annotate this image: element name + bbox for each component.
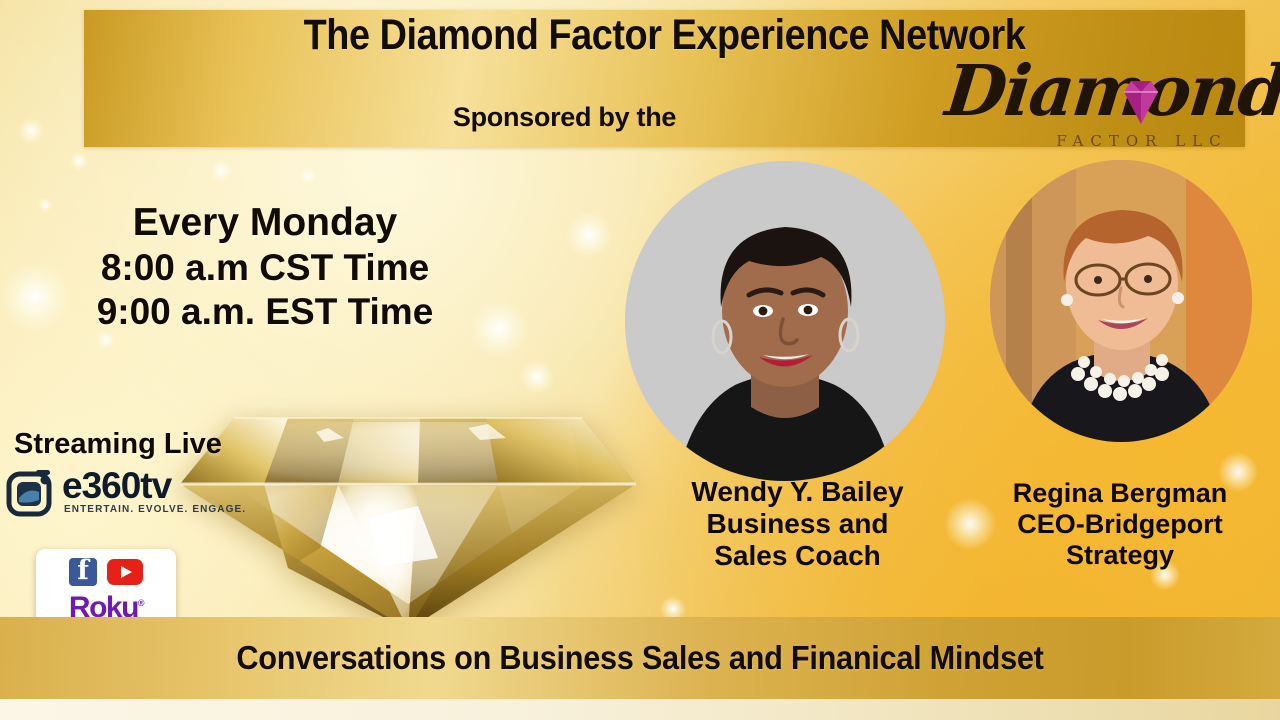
schedule-block: Every Monday 8:00 a.m CST Time 9:00 a.m.… [30, 200, 500, 333]
wendy-bailey-caption: Wendy Y. Bailey Business and Sales Coach [650, 476, 945, 573]
header-band: The Diamond Factor Experience Network Sp… [84, 10, 1245, 147]
streaming-live-label: Streaming Live [14, 428, 222, 461]
bottom-edge-strip [0, 699, 1280, 720]
portrait-illustration [990, 160, 1252, 442]
gold-diamond-gemstone-icon [168, 398, 648, 634]
schedule-time-est: 9:00 a.m. EST Time [30, 290, 500, 334]
bokeh-sparkle [18, 118, 44, 144]
bokeh-sparkle [210, 160, 232, 182]
platform-row-social [42, 556, 170, 587]
e360tv-tagline: ENTERTAIN. EVOLVE. ENGAGE. [64, 504, 246, 515]
regina-bergman-caption: Regina Bergman CEO-Bridgeport Strategy [970, 478, 1270, 571]
diamond-gem-icon [1116, 78, 1166, 126]
speaker-name: Regina Bergman [970, 478, 1270, 509]
e360tv-camera-mark-icon [6, 468, 58, 518]
speaker-role-2: Strategy [970, 540, 1270, 571]
e360tv-logo: e360tv ENTERTAIN. EVOLVE. ENGAGE. [6, 466, 196, 522]
diamond-factor-logo: Diamond FACTOR LLC [946, 52, 1276, 156]
facebook-icon[interactable] [69, 558, 97, 586]
portrait-illustration [625, 161, 945, 481]
promo-poster: The Diamond Factor Experience Network Sp… [0, 0, 1280, 720]
bokeh-sparkle [520, 360, 554, 394]
regina-bergman-photo [990, 160, 1252, 442]
brand-subtitle: FACTOR LLC [1002, 132, 1280, 150]
bottom-tagline: Conversations on Business Sales and Fina… [45, 639, 1235, 677]
brand-script-wordmark: Diamond [942, 52, 1280, 132]
bottom-band: Conversations on Business Sales and Fina… [0, 617, 1280, 699]
speaker-role-1: CEO-Bridgeport [970, 509, 1270, 540]
youtube-icon[interactable] [107, 559, 143, 585]
bokeh-sparkle [566, 212, 612, 258]
speaker-name: Wendy Y. Bailey [650, 476, 945, 508]
e360tv-wordmark: e360tv [62, 466, 171, 506]
schedule-day: Every Monday [30, 200, 500, 246]
speaker-role-1: Business and [650, 508, 945, 540]
wendy-bailey-photo [625, 161, 945, 481]
bokeh-sparkle [300, 168, 316, 184]
sponsored-by-label: Sponsored by the [453, 102, 676, 133]
schedule-time-cst: 8:00 a.m CST Time [30, 246, 500, 290]
speaker-role-2: Sales Coach [650, 540, 945, 572]
bokeh-sparkle [70, 152, 88, 170]
